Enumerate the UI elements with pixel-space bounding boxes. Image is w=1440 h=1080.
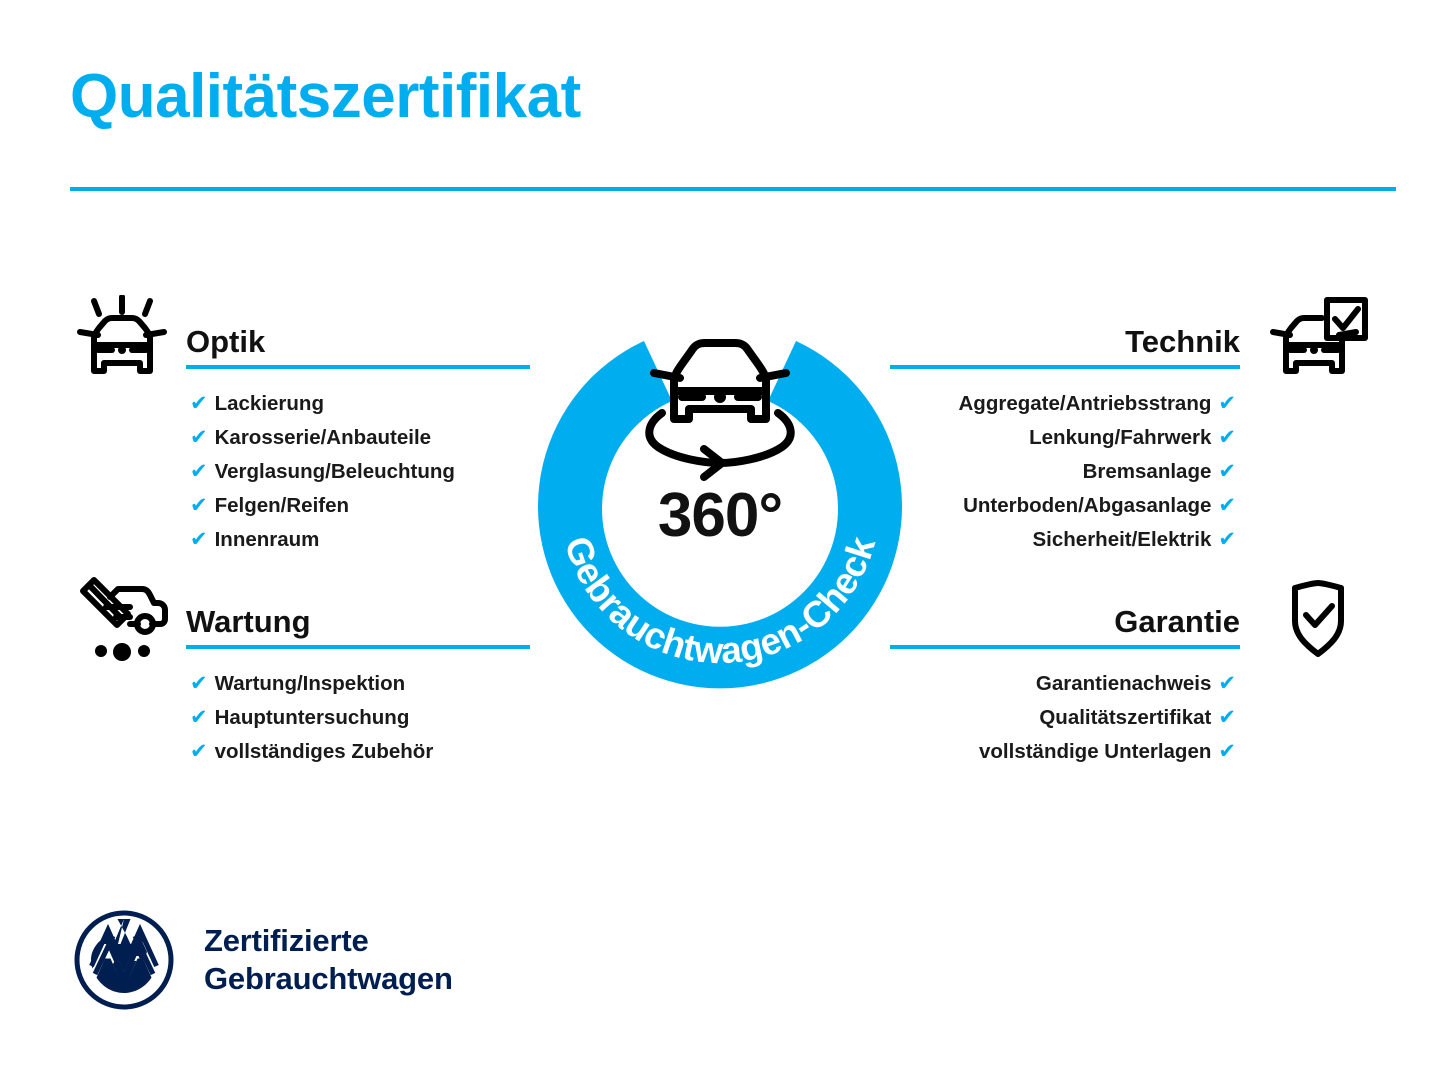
- check-icon: ✔: [190, 523, 208, 557]
- list-item: ✔Karosserie/Anbauteile: [70, 421, 535, 455]
- section-technik-header: Technik: [890, 295, 1370, 387]
- list-item: ✔Garantienachweis: [890, 667, 1370, 701]
- section-wartung-title: Wartung: [186, 606, 311, 637]
- list-item-label: Hauptuntersuchung: [215, 701, 410, 735]
- 360-check-badge: Gebrauchtwagen-Check 360°: [506, 289, 934, 717]
- section-technik-divider: [890, 365, 1240, 369]
- list-item-label: Verglasung/Beleuchtung: [215, 455, 455, 489]
- list-item-label: Felgen/Reifen: [215, 489, 349, 523]
- list-item: ✔Qualitätszertifikat: [890, 701, 1370, 735]
- section-garantie-title: Garantie: [1114, 606, 1240, 637]
- list-item-label: vollständiges Zubehör: [215, 735, 434, 769]
- list-item-label: Unterboden/Abgasanlage: [963, 489, 1211, 523]
- check-icon: ✔: [1218, 421, 1236, 455]
- section-wartung: Wartung ✔Wartung/Inspektion ✔Hauptunters…: [70, 575, 535, 769]
- list-item: ✔vollständige Unterlagen: [890, 735, 1370, 769]
- section-optik: Optik ✔Lackierung ✔Karosserie/Anbauteile…: [70, 295, 535, 557]
- check-icon: ✔: [1218, 701, 1236, 735]
- section-wartung-list: ✔Wartung/Inspektion ✔Hauptuntersuchung ✔…: [70, 667, 535, 769]
- footer-line-2: Gebrauchtwagen: [204, 960, 453, 998]
- certificate-page: Qualitätszertifikat Optik: [0, 0, 1440, 1080]
- list-item-label: Aggregate/Antriebsstrang: [959, 387, 1212, 421]
- list-item: ✔Felgen/Reifen: [70, 489, 535, 523]
- section-optik-divider: [186, 365, 530, 369]
- section-garantie-list: ✔Garantienachweis ✔Qualitätszertifikat ✔…: [890, 667, 1370, 769]
- section-optik-list: ✔Lackierung ✔Karosserie/Anbauteile ✔Verg…: [70, 387, 535, 557]
- pencil-car-service-icon: [70, 575, 174, 667]
- list-item: ✔Unterboden/Abgasanlage: [890, 489, 1370, 523]
- check-icon: ✔: [190, 387, 208, 421]
- check-icon: ✔: [190, 667, 208, 701]
- check-icon: ✔: [190, 421, 208, 455]
- list-item-label: Lackierung: [215, 387, 324, 421]
- list-item-label: Innenraum: [215, 523, 320, 557]
- list-item-label: Garantienachweis: [1036, 667, 1211, 701]
- volkswagen-logo: [72, 908, 176, 1012]
- list-item-label: Sicherheit/Elektrik: [1033, 523, 1212, 557]
- section-optik-title: Optik: [186, 326, 265, 357]
- list-item: ✔Lenkung/Fahrwerk: [890, 421, 1370, 455]
- check-icon: ✔: [1218, 735, 1236, 769]
- car-rotate-icon: [649, 343, 790, 477]
- shield-check-icon: [1266, 575, 1370, 667]
- footer-brand-text: Zertifizierte Gebrauchtwagen: [204, 922, 453, 998]
- list-item: ✔Hauptuntersuchung: [70, 701, 535, 735]
- page-title: Qualitätszertifikat: [70, 66, 581, 128]
- footer-brand: Zertifizierte Gebrauchtwagen: [72, 908, 453, 1012]
- check-icon: ✔: [190, 489, 208, 523]
- footer-line-1: Zertifizierte: [204, 922, 453, 960]
- check-icon: ✔: [190, 735, 208, 769]
- list-item: ✔Innenraum: [70, 523, 535, 557]
- list-item-label: vollständige Unterlagen: [979, 735, 1211, 769]
- list-item: ✔Lackierung: [70, 387, 535, 421]
- section-garantie-header: Garantie: [890, 575, 1370, 667]
- list-item-label: Qualitätszertifikat: [1039, 701, 1211, 735]
- section-garantie: Garantie ✔Garantienachweis ✔Qualitätszer…: [890, 575, 1370, 769]
- check-icon: ✔: [1218, 523, 1236, 557]
- list-item-label: Bremsanlage: [1083, 455, 1212, 489]
- section-optik-header: Optik: [70, 295, 535, 387]
- list-item: ✔Wartung/Inspektion: [70, 667, 535, 701]
- list-item: ✔Sicherheit/Elektrik: [890, 523, 1370, 557]
- check-icon: ✔: [1218, 489, 1236, 523]
- check-icon: ✔: [190, 455, 208, 489]
- section-technik-list: ✔Aggregate/Antriebsstrang ✔Lenkung/Fahrw…: [890, 387, 1370, 557]
- check-icon: ✔: [1218, 667, 1236, 701]
- list-item-label: Wartung/Inspektion: [215, 667, 406, 701]
- check-icon: ✔: [1218, 387, 1236, 421]
- car-front-shine-icon: [70, 295, 174, 387]
- check-icon: ✔: [1218, 455, 1236, 489]
- list-item: ✔Verglasung/Beleuchtung: [70, 455, 535, 489]
- section-wartung-divider: [186, 645, 530, 649]
- section-wartung-header: Wartung: [70, 575, 535, 667]
- section-technik: Technik ✔Aggregate/Antriebsstrang ✔Lenku…: [890, 295, 1370, 557]
- list-item: ✔Bremsanlage: [890, 455, 1370, 489]
- header-divider: [70, 187, 1396, 191]
- check-icon: ✔: [190, 701, 208, 735]
- list-item-label: Lenkung/Fahrwerk: [1029, 421, 1211, 455]
- badge-center-text: 360°: [506, 485, 934, 547]
- list-item: ✔Aggregate/Antriebsstrang: [890, 387, 1370, 421]
- section-garantie-divider: [890, 645, 1240, 649]
- list-item: ✔vollständiges Zubehör: [70, 735, 535, 769]
- section-technik-title: Technik: [1125, 326, 1240, 357]
- list-item-label: Karosserie/Anbauteile: [215, 421, 431, 455]
- car-front-checkbox-icon: [1266, 295, 1370, 387]
